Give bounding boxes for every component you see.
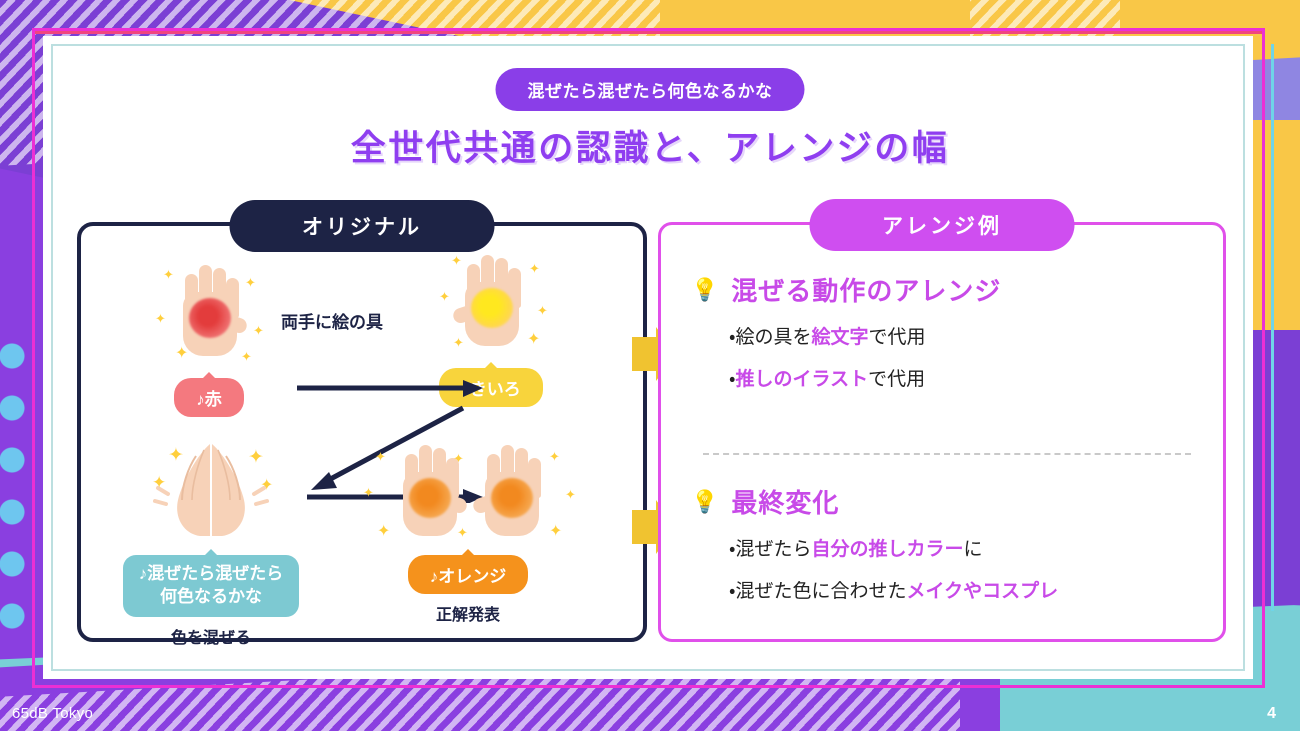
arrange-panel-heading: アレンジ例 (810, 199, 1075, 251)
lightbulb-icon: 💡 (691, 489, 719, 515)
list-item: 推しのイラストで代用 (729, 364, 1201, 391)
section-mix-motion-header: 💡 混ぜる動作のアレンジ (691, 271, 1201, 308)
orange-painted-hands-icon: ✦ ✦ ✦ ✦ ✦ ✦ ✦ ✦ (353, 438, 583, 546)
step-orange: ✦ ✦ ✦ ✦ ✦ ✦ ✦ ✦ ♪オレンジ 正解発表 (343, 438, 593, 625)
section-mix-motion: 💡 混ぜる動作のアレンジ 絵の具を絵文字で代用 推しのイラストで代用 (691, 271, 1201, 406)
list-item: 絵の具を絵文字で代用 (729, 322, 1201, 349)
note-both-hands-paint: 両手に絵の具 (281, 308, 383, 333)
lightbulb-icon: 💡 (691, 277, 719, 303)
subtitle-badge: 混ぜたら混ぜたら何色なるかな (496, 68, 805, 111)
section-mix-motion-bullets: 絵の具を絵文字で代用 推しのイラストで代用 (691, 322, 1201, 391)
label-red: ♪赤 (174, 378, 244, 417)
section-final-change-header: 💡 最終変化 (691, 483, 1201, 520)
caption-mix: 色を混ぜる (111, 624, 311, 648)
label-orange: ♪オレンジ (408, 555, 529, 594)
arrange-examples-panel: アレンジ例 💡 混ぜる動作のアレンジ 絵の具を絵文字で代用 推しのイラストで代用… (658, 222, 1226, 642)
section-mix-motion-title: 混ぜる動作のアレンジ (731, 271, 1001, 308)
section-final-change-bullets: 混ぜたら自分の推しカラーに 混ぜた色に合わせたメイクやコスプレ (691, 534, 1201, 603)
yellow-painted-palm-icon: ✦ ✦ ✦ ✦ ✦ ✦ (431, 244, 551, 359)
section-divider (703, 453, 1191, 455)
step-red: ✦ ✦ ✦ ✦ ✦ ✦ ♪赤 (129, 254, 289, 417)
section-final-change-title: 最終変化 (731, 483, 839, 520)
frame-pink-top-line (35, 31, 1262, 34)
page-title: 全世代共通の認識と、アレンジの幅 (0, 120, 1300, 171)
label-mix: ♪混ぜたら混ぜたら 何色なるかな (123, 555, 300, 617)
original-panel: オリジナル ✦ ✦ ✦ ✦ ✦ ✦ ♪赤 両手に絵の具 ✦ ✦ ✦ ✦ ✦ ✦ (77, 222, 647, 642)
praying-hands-icon: ✦ ✦ ✦ ✦ (136, 438, 286, 546)
page-number: 4 (1267, 705, 1276, 723)
section-final-change: 💡 最終変化 混ぜたら自分の推しカラーに 混ぜた色に合わせたメイクやコスプレ (691, 483, 1201, 618)
caption-answer: 正解発表 (343, 601, 593, 625)
list-item: 混ぜた色に合わせたメイクやコスプレ (729, 576, 1201, 603)
red-painted-palm-icon: ✦ ✦ ✦ ✦ ✦ ✦ (149, 254, 269, 369)
list-item: 混ぜたら自分の推しカラーに (729, 534, 1201, 561)
footer-brand: 65dB Tokyo (12, 705, 93, 722)
step-mix: ✦ ✦ ✦ ✦ ♪混ぜたら混ぜたら 何色なるかな 色を混ぜる (111, 438, 311, 648)
